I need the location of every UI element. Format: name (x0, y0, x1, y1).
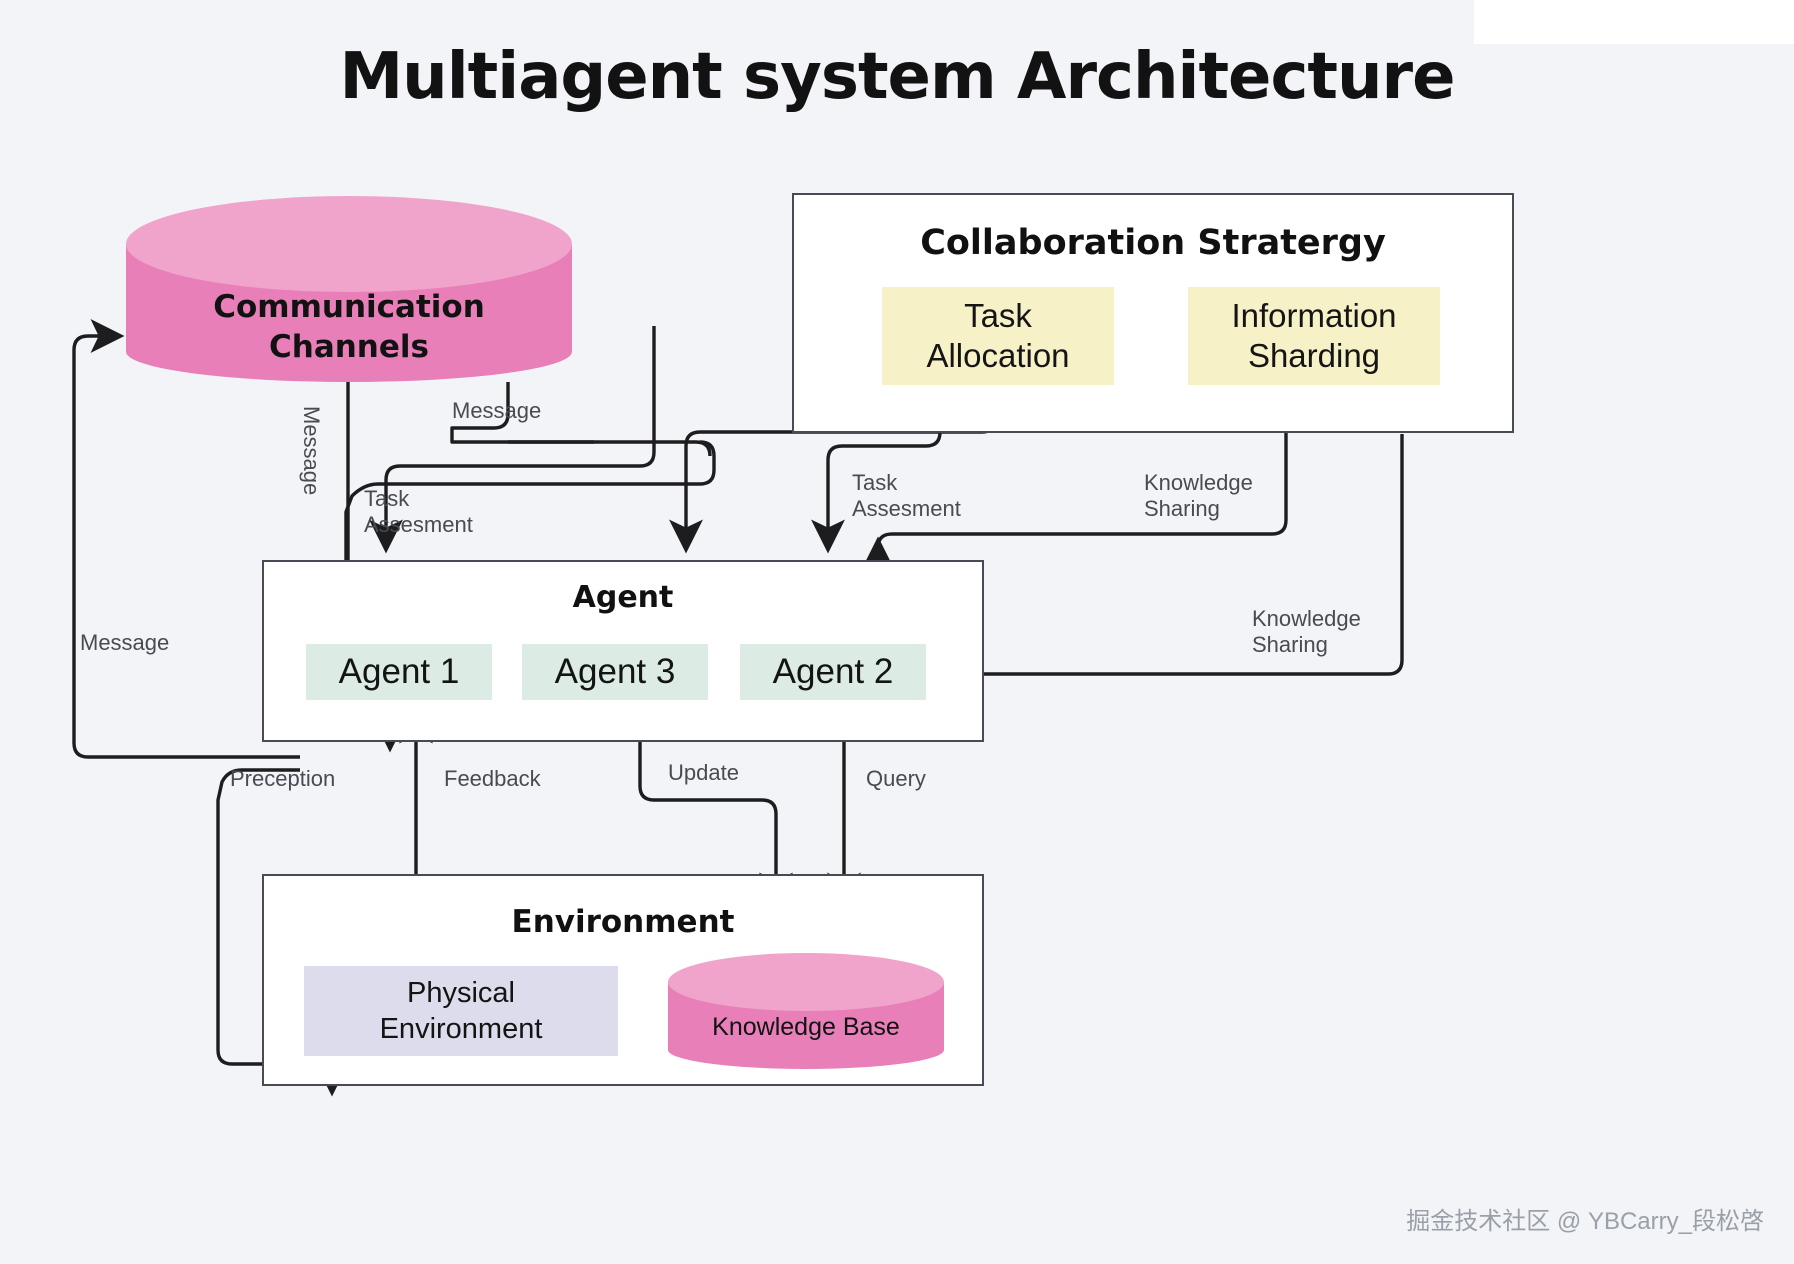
cylinder-top (126, 196, 572, 292)
edge-label-message-left: Message (80, 630, 169, 656)
corner-notch (1474, 0, 1794, 44)
communication-channels-label: Communication Channels (126, 288, 572, 367)
agent-1-chip[interactable]: Agent 1 (306, 644, 492, 700)
knowledge-base-label: Knowledge Base (668, 1013, 944, 1042)
edge-label-task-assesment-left: Task Assesment (364, 486, 473, 539)
agent-3-chip[interactable]: Agent 3 (522, 644, 708, 700)
agent-panel: Agent Agent 1 Agent 3 Agent 2 (262, 560, 984, 742)
environment-panel-title: Environment (264, 904, 982, 940)
information-sharding-chip[interactable]: Information Sharding (1188, 287, 1440, 385)
physical-environment-chip[interactable]: Physical Environment (304, 966, 618, 1056)
edge-label-preception: Preception (230, 766, 335, 792)
knowledge-base-node[interactable]: Knowledge Base (668, 953, 944, 1069)
collaboration-strategy-panel: Collaboration Stratergy Task Allocation … (792, 193, 1514, 433)
edge-label-knowledge-sharing-upper: Knowledge Sharing (1144, 470, 1253, 523)
edge-label-message-top: Message (452, 398, 541, 424)
agent-2-chip[interactable]: Agent 2 (740, 644, 926, 700)
collaboration-strategy-title: Collaboration Stratergy (794, 223, 1512, 263)
task-allocation-chip[interactable]: Task Allocation (882, 287, 1114, 385)
edge-label-message-vertical: Message (298, 406, 324, 495)
agent-panel-title: Agent (264, 580, 982, 615)
edge-label-feedback: Feedback (444, 766, 541, 792)
edge-label-update: Update (668, 760, 739, 786)
edge-message-top-bus (508, 442, 710, 456)
page-title: Multiagent system Architecture (0, 40, 1794, 114)
edge-label-task-assesment-right: Task Assesment (852, 470, 961, 523)
edge-label-knowledge-sharing-lower: Knowledge Sharing (1252, 606, 1361, 659)
cylinder-top (668, 953, 944, 1011)
diagram-canvas: Multiagent system Architecture (0, 0, 1794, 1264)
edge-label-query: Query (866, 766, 926, 792)
watermark: 掘金技术社区 @ YBCarry_段松啓 (1406, 1201, 1764, 1236)
communication-channels-node[interactable]: Communication Channels (126, 196, 572, 382)
